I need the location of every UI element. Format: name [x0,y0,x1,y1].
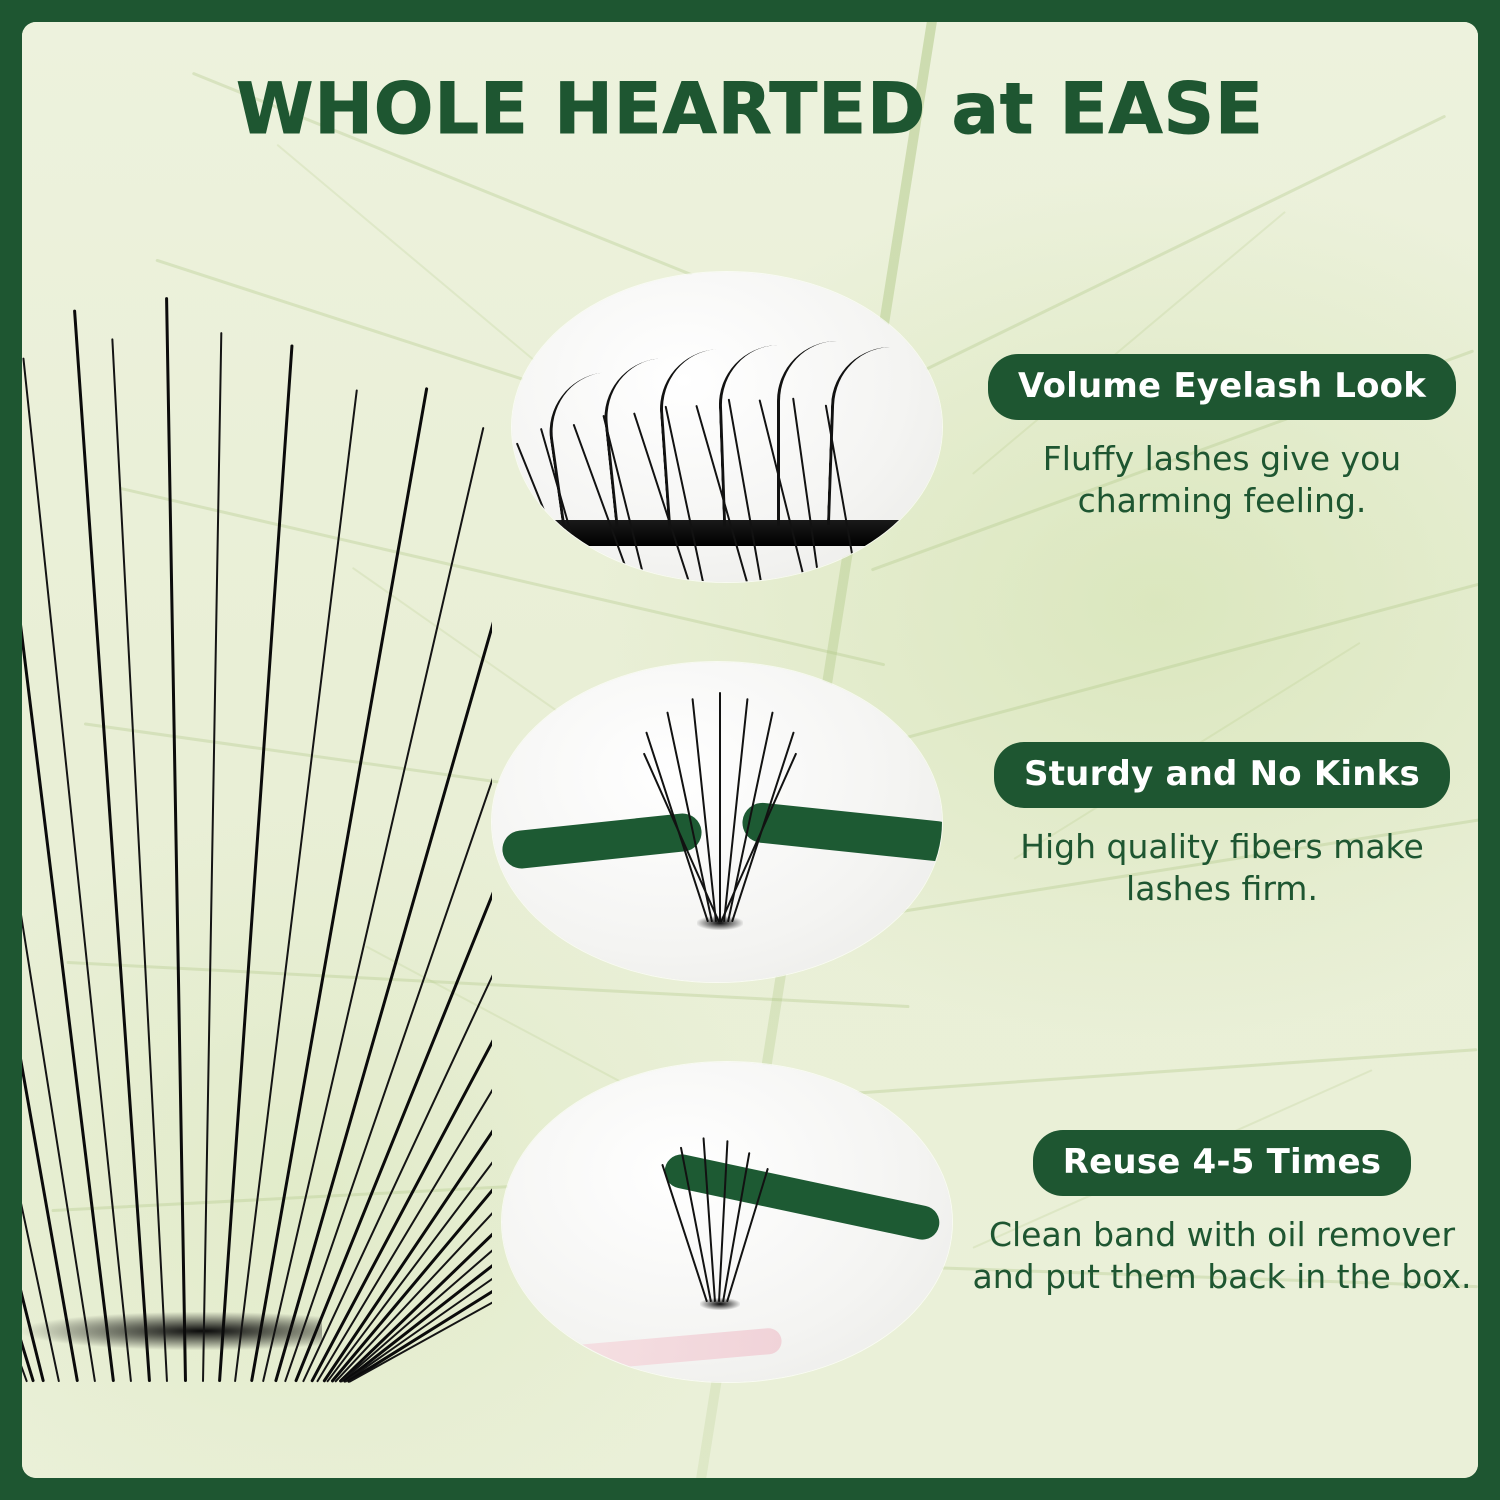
feature-heading-1: Volume Eyelash Look [988,354,1456,420]
leaf-vein [853,1048,1478,1095]
feature-block-2: Sturdy and No Kinks High quality fibers … [972,742,1472,909]
feature-description-2: High quality fibers make lashes firm. [972,826,1472,909]
feature-heading-2: Sturdy and No Kinks [994,742,1450,808]
feature-image-3 [502,1062,952,1382]
feature-heading-3: Reuse 4-5 Times [1033,1130,1411,1196]
page-title: WHOLE HEARTED at EASE [22,74,1478,144]
feature-image-2 [492,662,942,982]
poster-inner: WHOLE HEARTED at EASE [22,22,1478,1478]
poster-frame: WHOLE HEARTED at EASE [0,0,1500,1500]
feature-block-1: Volume Eyelash Look Fluffy lashes give y… [972,354,1472,521]
feature-block-3: Reuse 4-5 Times Clean band with oil remo… [972,1130,1472,1297]
hero-lash-image [22,222,492,1442]
feature-description-3: Clean band with oil remover and put them… [972,1214,1472,1297]
feature-description-1: Fluffy lashes give you charming feeling. [972,438,1472,521]
leaf-vein [877,582,1478,747]
feature-image-1 [512,272,942,582]
